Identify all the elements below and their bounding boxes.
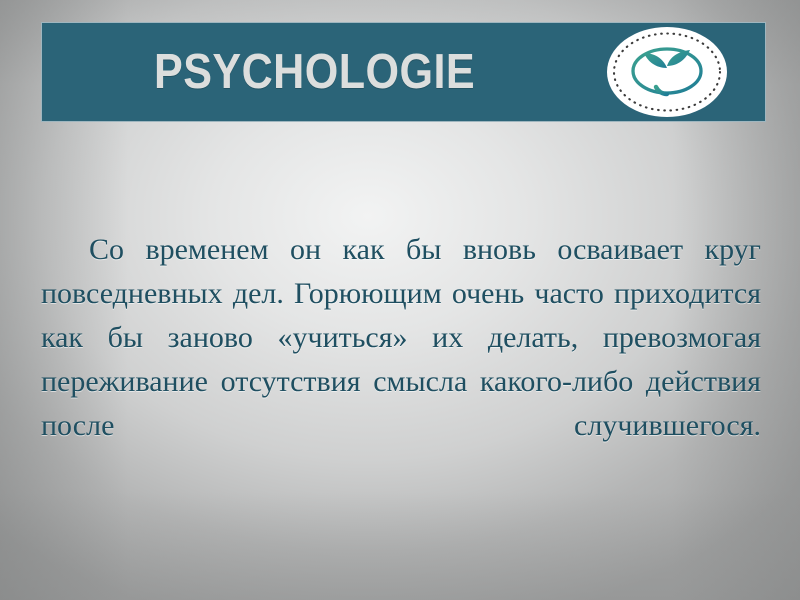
psychology-sprout-logo-icon [606,26,728,118]
body-paragraph: Со временем он как бы вновь осваивает кр… [41,228,761,492]
page-title: PSYCHOLOGIE [154,48,475,97]
slide-canvas: PSYCHOLOGIE [0,0,800,600]
header-banner: PSYCHOLOGIE [41,22,766,122]
